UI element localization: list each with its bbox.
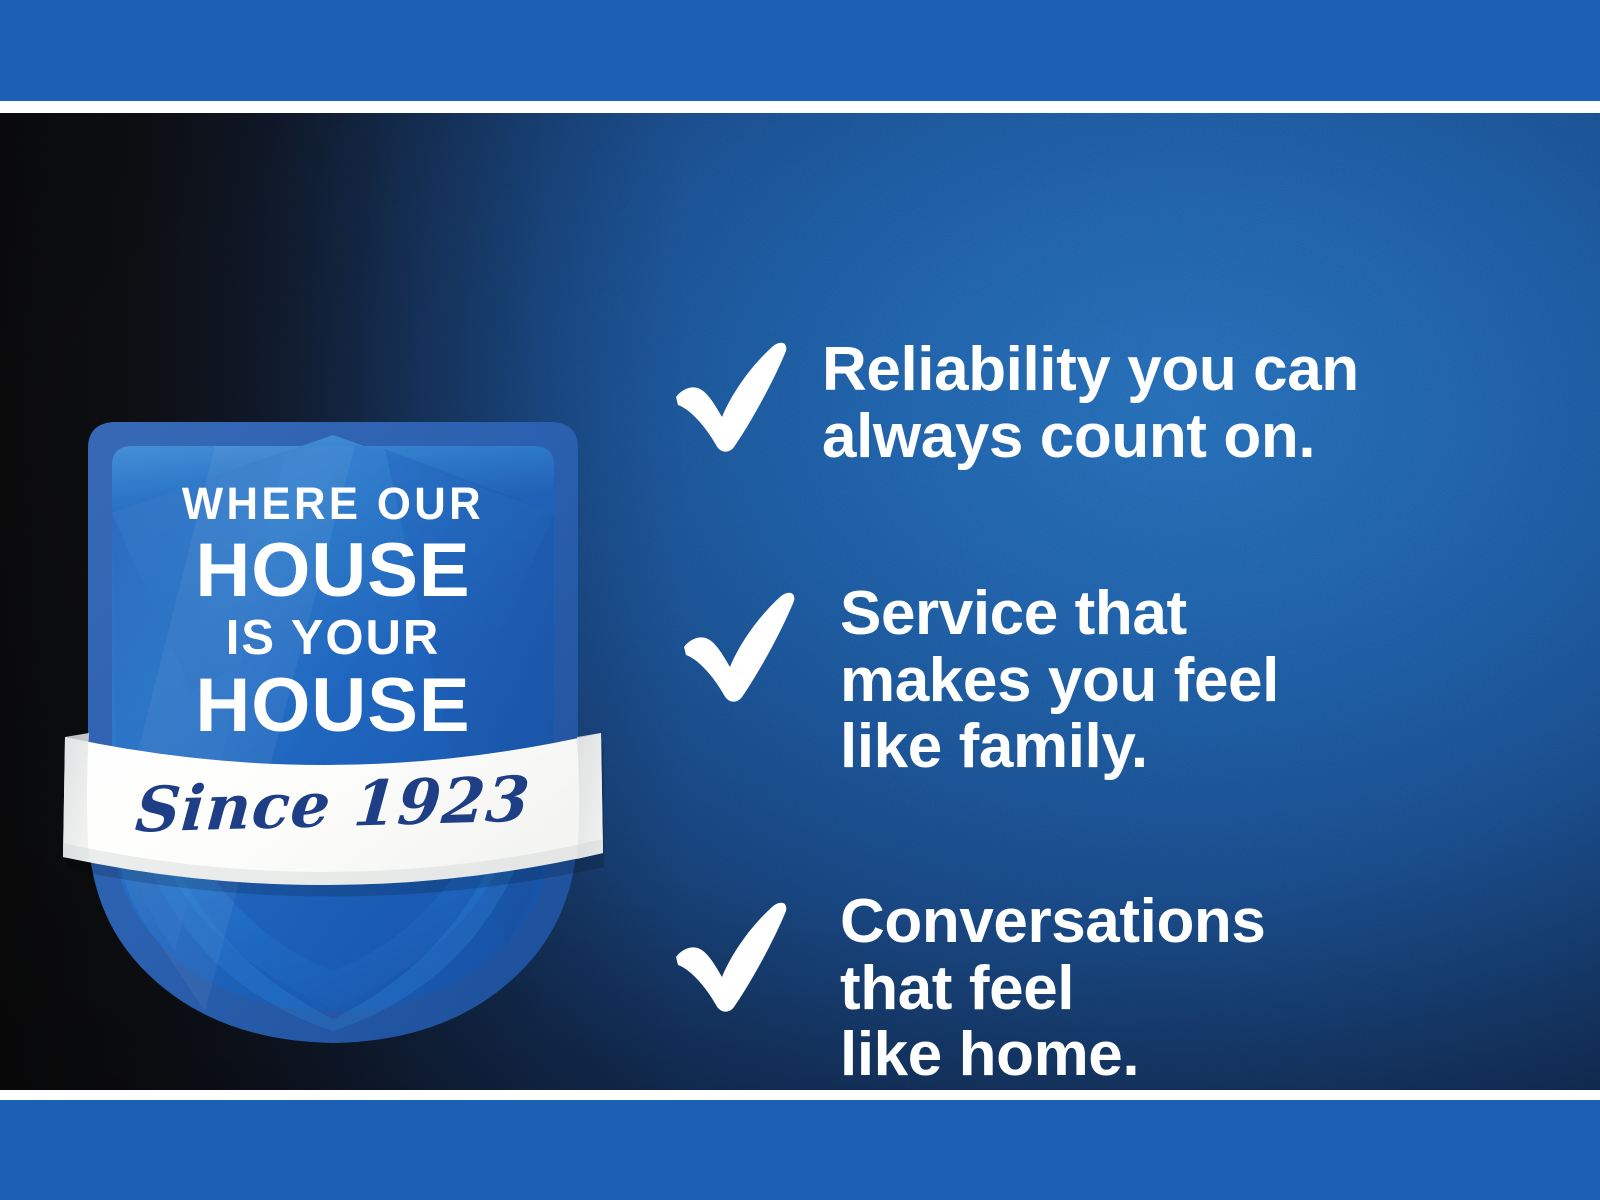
bottom-brand-bar [0,1100,1600,1200]
benefit-text: Service that makes you feel like family. [840,581,1279,781]
checkmark-icon [676,585,802,703]
promo-graphic: Where Our House Is Your House Since 1923… [0,0,1600,1200]
benefit-item: Conversations that feel like home. [668,893,1265,1089]
benefit-item: Service that makes you feel like family. [676,583,1279,781]
top-brand-bar [0,0,1600,101]
shield-badge: Where Our House Is Your House Since 1923 [55,391,611,1051]
benefit-text: Conversations that feel like home. [840,889,1265,1089]
benefit-item: Reliability you can always count on. [668,333,1359,470]
content-stage: Where Our House Is Your House Since 1923… [0,113,1600,1090]
checkmark-icon [668,895,794,1013]
checkmark-icon [668,335,794,453]
benefit-text: Reliability you can always count on. [822,337,1359,470]
shield-icon [55,391,611,1051]
